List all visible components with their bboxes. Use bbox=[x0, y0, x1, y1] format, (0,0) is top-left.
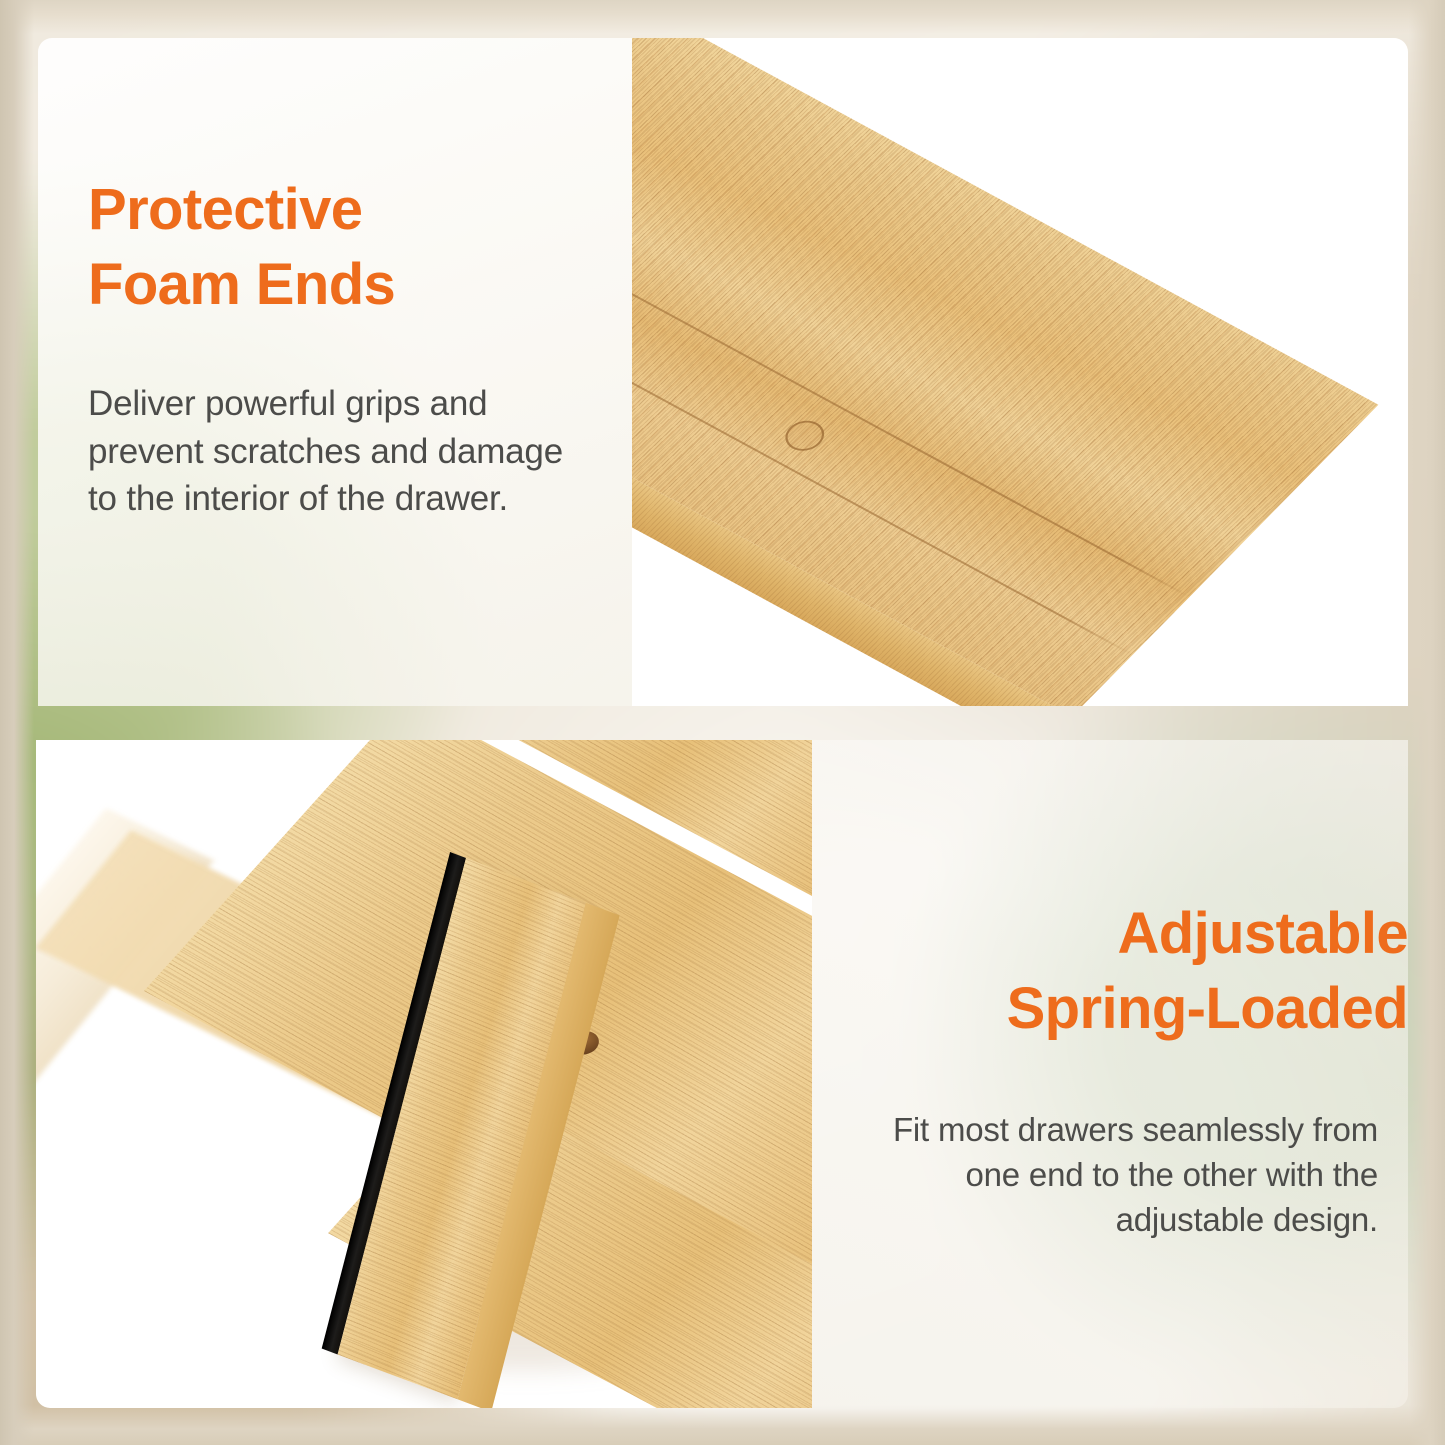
board-seam-line-lower bbox=[632, 167, 1133, 655]
headline-line-2: Spring-Loaded bbox=[868, 971, 1408, 1046]
body-adjustable-spring-loaded: Fit most drawers seamlessly from one end… bbox=[858, 1108, 1378, 1243]
headline-line-2: Foam Ends bbox=[88, 247, 608, 322]
crossing-boards-scene bbox=[36, 740, 812, 1408]
panel-protective-foam-ends bbox=[38, 38, 638, 706]
photo-card-adjustable-boards bbox=[36, 740, 812, 1408]
photo-card-foam-end-board bbox=[632, 38, 1408, 706]
bamboo-board-scene bbox=[632, 38, 1408, 706]
panel-adjustable-spring-loaded bbox=[812, 740, 1408, 1408]
adjustment-hole-icon bbox=[777, 415, 832, 456]
headline-adjustable-spring-loaded: Adjustable Spring-Loaded bbox=[868, 896, 1408, 1047]
bamboo-board-top-face bbox=[632, 38, 1378, 706]
headline-line-1: Adjustable bbox=[868, 896, 1408, 971]
infographic-canvas: Protective Foam Ends Deliver powerful gr… bbox=[0, 0, 1445, 1445]
headline-line-1: Protective bbox=[88, 172, 608, 247]
headline-protective-foam-ends: Protective Foam Ends bbox=[88, 172, 608, 323]
body-protective-foam-ends: Deliver powerful grips and prevent scrat… bbox=[88, 380, 588, 523]
